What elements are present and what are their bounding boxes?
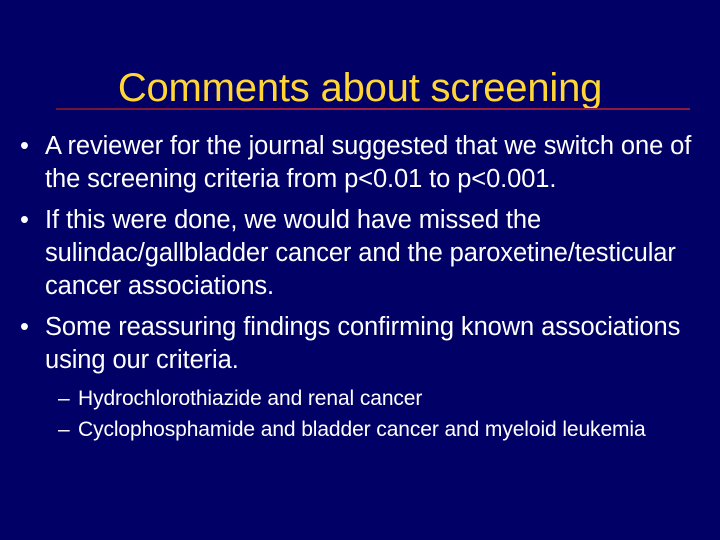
- slide-body: • A reviewer for the journal suggested t…: [0, 130, 720, 447]
- sub-list-item: – Cyclophosphamide and bladder cancer an…: [0, 416, 720, 444]
- sub-list: – Hydrochlorothiazide and renal cancer –…: [0, 385, 720, 444]
- bullet-text: A reviewer for the journal suggested tha…: [45, 130, 708, 196]
- bullet-text: If this were done, we would have missed …: [45, 204, 708, 303]
- sub-bullet-text: Hydrochlorothiazide and renal cancer: [78, 385, 700, 413]
- bullet-dot-icon: •: [20, 204, 40, 237]
- list-item: • Some reassuring findings confirming kn…: [0, 311, 720, 377]
- bullet-dash-icon: –: [58, 416, 78, 444]
- list-item: • A reviewer for the journal suggested t…: [0, 130, 720, 196]
- sub-list-item: – Hydrochlorothiazide and renal cancer: [0, 385, 720, 413]
- bullet-text: Some reassuring findings confirming know…: [45, 311, 708, 377]
- title-divider-rule: [56, 108, 690, 110]
- list-item: • If this were done, we would have misse…: [0, 204, 720, 303]
- bullet-dash-icon: –: [58, 385, 78, 413]
- presentation-slide: Comments about screening • A reviewer fo…: [0, 0, 720, 540]
- bullet-dot-icon: •: [20, 311, 40, 344]
- sub-bullet-text: Cyclophosphamide and bladder cancer and …: [78, 416, 700, 444]
- bullet-dot-icon: •: [20, 130, 40, 163]
- page-title: Comments about screening: [0, 67, 720, 109]
